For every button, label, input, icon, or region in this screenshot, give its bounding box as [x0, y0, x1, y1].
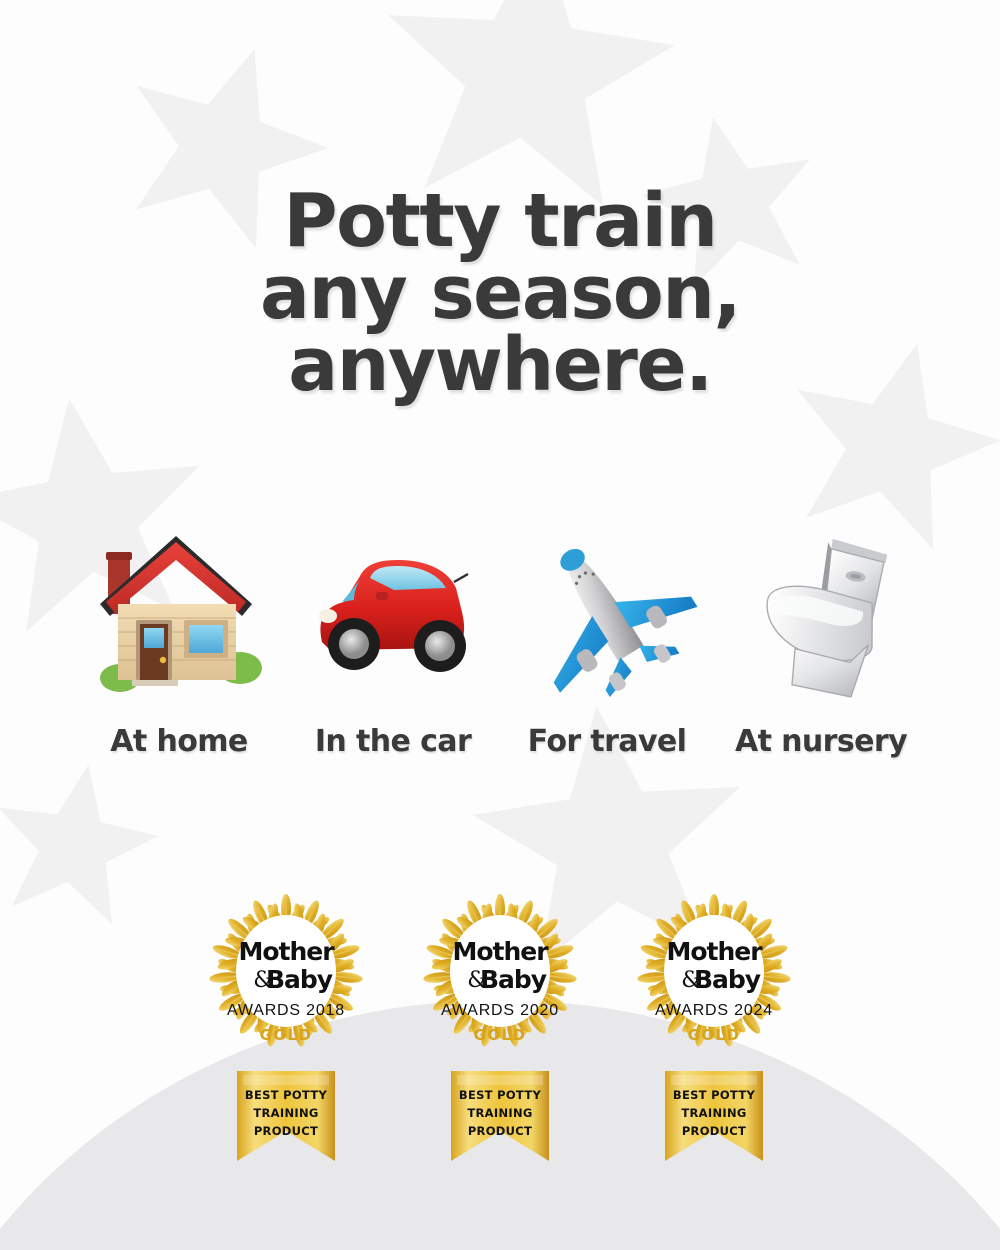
use-case-at-nursery: At nursery	[714, 520, 928, 759]
award-badge: Mother & Baby AWARDS 2018 GOLD BEST POTT…	[191, 875, 381, 1195]
award-year: AWARDS 2018	[227, 1002, 345, 1019]
ribbon-line3: PRODUCT	[254, 1124, 318, 1138]
page-title: Potty train any season, anywhere.	[0, 186, 1000, 401]
award-brand-line1: Mother	[452, 937, 549, 966]
award-brand-line2: Baby	[266, 965, 333, 994]
car-icon	[298, 520, 488, 710]
award-brand-line2: Baby	[694, 965, 761, 994]
award-tier: GOLD	[474, 1026, 527, 1044]
use-case-label: At home	[110, 724, 247, 759]
house-icon	[84, 520, 274, 710]
award-year: AWARDS 2024	[655, 1002, 773, 1019]
ribbon-line3: PRODUCT	[682, 1124, 746, 1138]
ribbon-line2: TRAINING	[467, 1106, 532, 1120]
use-case-row: At home	[0, 520, 1000, 759]
use-case-in-the-car: In the car	[286, 520, 500, 759]
award-brand-line1: Mother	[238, 937, 335, 966]
headline-line-2: any season,	[0, 258, 1000, 330]
award-tier: GOLD	[260, 1026, 313, 1044]
award-badge: Mother & Baby AWARDS 2020 GOLD BEST POTT…	[405, 875, 595, 1195]
airplane-icon	[512, 520, 702, 710]
headline-line-1: Potty train	[0, 186, 1000, 258]
award-brand-line1: Mother	[666, 937, 763, 966]
award-brand-line2: Baby	[480, 965, 547, 994]
award-year: AWARDS 2020	[441, 1002, 559, 1019]
headline-block: Potty train any season, anywhere.	[0, 186, 1000, 401]
toilet-icon	[726, 520, 916, 710]
ribbon-line1: BEST POTTY	[673, 1088, 756, 1102]
ribbon-line1: BEST POTTY	[245, 1088, 328, 1102]
award-tier: GOLD	[688, 1026, 741, 1044]
ribbon-line2: TRAINING	[681, 1106, 746, 1120]
headline-line-3: anywhere.	[0, 330, 1000, 402]
award-badge: Mother & Baby AWARDS 2024 GOLD BEST POTT…	[619, 875, 809, 1195]
awards-row: Mother & Baby AWARDS 2018 GOLD BEST POTT…	[0, 875, 1000, 1195]
use-case-label: At nursery	[735, 724, 907, 759]
use-case-at-home: At home	[72, 520, 286, 759]
use-case-for-travel: For travel	[500, 520, 714, 759]
ribbon-line3: PRODUCT	[468, 1124, 532, 1138]
use-case-label: For travel	[528, 724, 687, 759]
ribbon-line1: BEST POTTY	[459, 1088, 542, 1102]
ribbon-line2: TRAINING	[253, 1106, 318, 1120]
use-case-label: In the car	[315, 724, 471, 759]
